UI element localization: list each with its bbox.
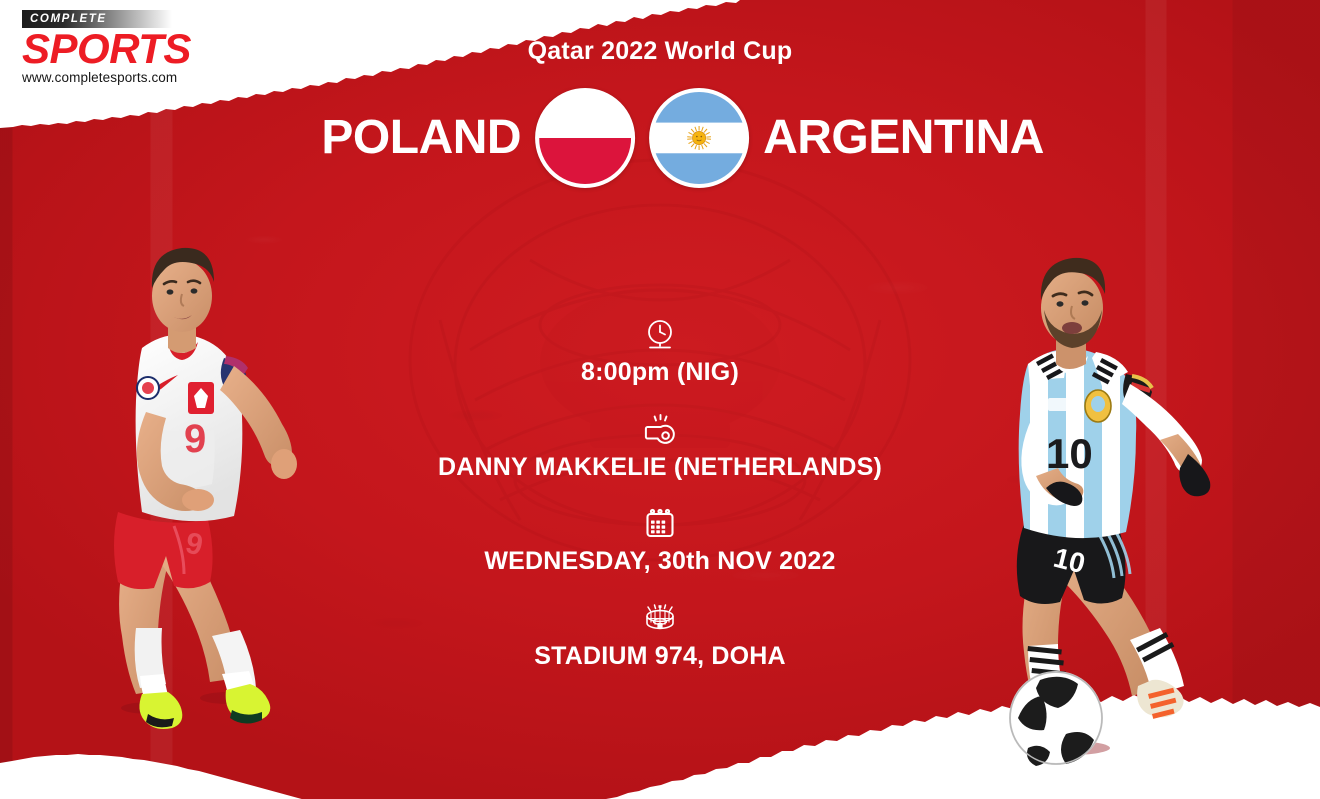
clock-icon <box>280 318 1040 352</box>
match-info-row-date: WEDNESDAY, 30th NOV 2022 <box>280 507 1040 576</box>
poland-flag-icon <box>535 88 635 188</box>
match-info-block: 8:00pm (NIG) DANNY MAKKELIE (NETHERLANDS… <box>280 318 1040 670</box>
whistle-icon <box>280 413 1040 447</box>
match-venue-text: STADIUM 974, DOHA <box>280 643 1040 671</box>
match-preview-poster: COMPLETE SPORTS www.completesports.com Q… <box>0 0 1320 799</box>
argentina-flag-icon <box>649 88 749 188</box>
home-team-name: POLAND <box>276 114 521 162</box>
match-info-row-time: 8:00pm (NIG) <box>280 318 1040 387</box>
competition-title: Qatar 2022 World Cup <box>0 37 1320 66</box>
matchup-row: POLAND <box>276 88 1044 188</box>
logo-website-url: www.completesports.com <box>22 70 190 85</box>
away-team-name: ARGENTINA <box>763 114 1044 162</box>
match-info-row-venue: STADIUM 974, DOHA <box>280 602 1040 671</box>
match-date-text: WEDNESDAY, 30th NOV 2022 <box>280 548 1040 576</box>
match-time-text: 8:00pm (NIG) <box>280 359 1040 387</box>
match-info-row-referee: DANNY MAKKELIE (NETHERLANDS) <box>280 413 1040 482</box>
stadium-icon <box>280 602 1040 636</box>
match-referee-text: DANNY MAKKELIE (NETHERLANDS) <box>280 454 1040 482</box>
calendar-icon <box>280 507 1040 541</box>
